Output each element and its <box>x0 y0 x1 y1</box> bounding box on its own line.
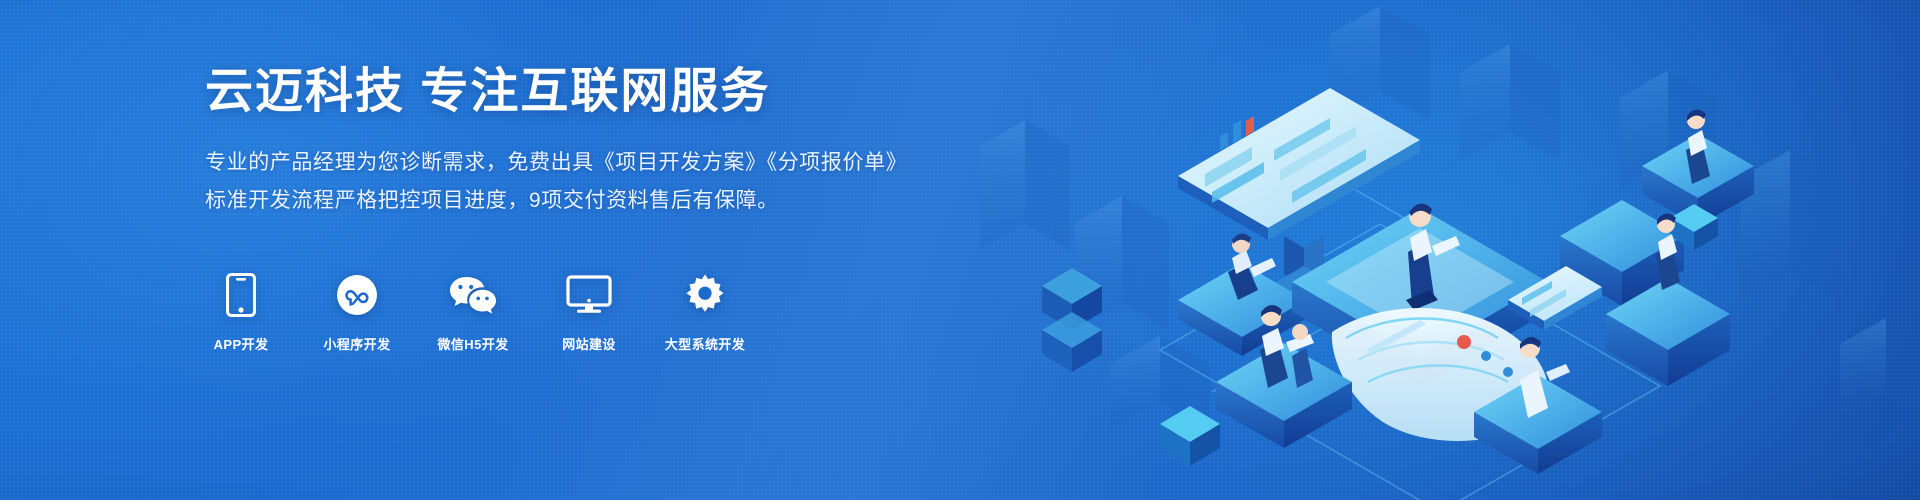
service-item-large-system[interactable]: 大型系统开发 <box>669 272 741 353</box>
server-stack <box>1042 268 1102 372</box>
service-label: 小程序开发 <box>323 334 390 353</box>
service-label: APP开发 <box>214 334 269 353</box>
accent-cube <box>1160 406 1220 466</box>
gear-icon <box>683 272 727 318</box>
service-item-wechat-h5[interactable]: 微信H5开发 <box>437 272 509 353</box>
banner-copy: 云迈科技 专注互联网服务 专业的产品经理为您诊断需求，免费出具《项目开发方案》《… <box>205 64 925 219</box>
service-list: APP开发 小程序开发 微信 <box>205 272 741 353</box>
page-title: 云迈科技 专注互联网服务 <box>205 64 925 119</box>
wechat-icon <box>448 272 498 318</box>
monitor-icon <box>566 272 612 318</box>
isometric-illustration <box>860 0 1920 500</box>
hero-banner: 云迈科技 专注互联网服务 专业的产品经理为您诊断需求，免费出具《项目开发方案》《… <box>0 0 1920 500</box>
mobile-phone-icon <box>226 272 256 318</box>
service-item-mini-program[interactable]: 小程序开发 <box>321 272 393 353</box>
service-item-website[interactable]: 网站建设 <box>553 272 625 353</box>
subtitle-line-1: 专业的产品经理为您诊断需求，免费出具《项目开发方案》《分项报价单》 <box>205 145 925 181</box>
banner-subtitle: 专业的产品经理为您诊断需求，免费出具《项目开发方案》《分项报价单》 标准开发流程… <box>205 145 925 219</box>
subtitle-line-2: 标准开发流程严格把控项目进度，9项交付资料售后有保障。 <box>205 183 925 219</box>
mini-program-icon <box>336 272 378 318</box>
service-label: 网站建设 <box>562 334 616 353</box>
service-label: 微信H5开发 <box>437 334 508 353</box>
service-item-app[interactable]: APP开发 <box>205 272 277 353</box>
service-label: 大型系统开发 <box>665 334 745 353</box>
